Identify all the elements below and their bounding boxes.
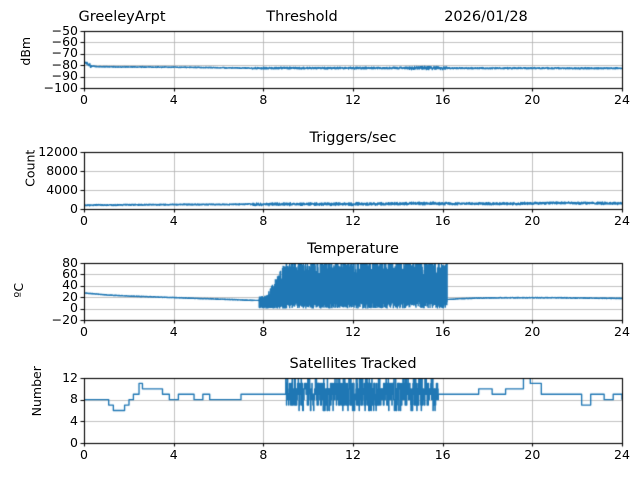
multi-panel-plot-canvas <box>0 0 640 480</box>
figure-canvas-root: GreeleyArpt Threshold 2026/01/28 Trigger… <box>0 0 640 480</box>
